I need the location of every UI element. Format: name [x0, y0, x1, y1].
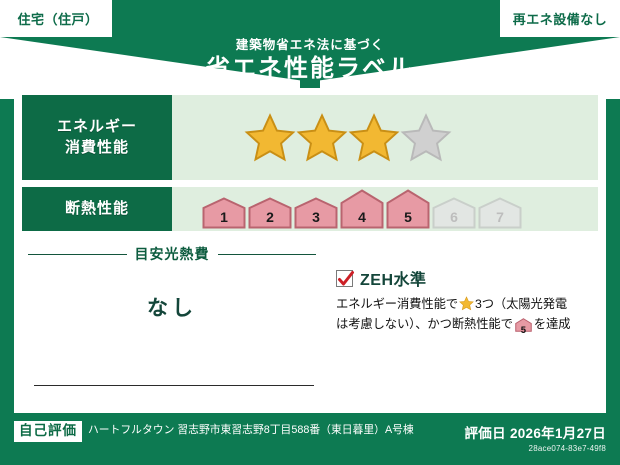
star-icon-filled [296, 112, 348, 164]
star-rating [244, 112, 452, 164]
self-evaluation-badge: 自己評価 [14, 421, 82, 442]
tag-renewable-equipment: 再エネ設備なし [500, 0, 620, 37]
energy-cost-header: 目安光熱費 [28, 244, 316, 264]
insulation-grade-3: 3 [294, 197, 338, 229]
zeh-desc-part2: は考慮しない）、かつ断熱性能で [336, 317, 513, 331]
insulation-grade-6: 6 [432, 197, 476, 229]
zeh-desc-part3: を達成 [534, 317, 571, 331]
energy-performance-row: エネルギー 消費性能 [22, 95, 598, 180]
energy-label-root: 住宅（住戸） 再エネ設備なし 建築物省エネ法に基づく 省エネ性能ラベル エネルギ… [0, 0, 620, 465]
zeh-grade-badge: 5 [515, 318, 532, 339]
energy-cost-rule-right [218, 254, 317, 255]
insulation-grade-value: 3 [294, 209, 338, 225]
zeh-desc-part1: エネルギー消費性能で [336, 297, 458, 311]
zeh-title: ZEH水準 [360, 266, 427, 290]
label-footer: 自己評価 ハートフルタウン 習志野市東習志野8丁目588番（東日暮里）A号棟 評… [0, 413, 620, 465]
insulation-performance-body: 1234567 [172, 187, 598, 231]
insulation-grade-7: 7 [478, 197, 522, 229]
energy-performance-body [172, 95, 598, 180]
star-icon-filled [348, 112, 400, 164]
label-card: エネルギー 消費性能 断熱性能 1234567 目安光熱費 [14, 88, 606, 413]
zeh-checkbox[interactable] [336, 270, 353, 287]
energy-performance-label-line1: エネルギー [57, 117, 137, 137]
evaluation-hash: 28ace074-83e7-49f8 [464, 444, 606, 453]
insulation-grade-value: 7 [478, 209, 522, 225]
insulation-grade-value: 4 [340, 209, 384, 225]
property-address: ハートフルタウン 習志野市東習志野8丁目588番（東日暮里）A号棟 [88, 421, 418, 438]
zeh-header: ZEH水準 [336, 266, 598, 290]
insulation-grade-value: 6 [432, 209, 476, 225]
insulation-grade-value: 2 [248, 209, 292, 225]
star-icon [459, 296, 474, 311]
energy-cost-value: なし [22, 292, 322, 322]
energy-cost-underline [34, 385, 314, 386]
label-lower-section: 目安光熱費 なし ZEH水準 エネルギー消費性能で3つ（太陽光発電 [22, 240, 598, 409]
insulation-grade-scale: 1234567 [202, 189, 522, 229]
evaluation-date-label: 評価日 [464, 426, 505, 441]
zeh-panel: ZEH水準 エネルギー消費性能で3つ（太陽光発電 は考慮しない）、かつ断熱性能で… [322, 240, 598, 409]
zeh-description: エネルギー消費性能で3つ（太陽光発電 は考慮しない）、かつ断熱性能で5を達成 [336, 295, 598, 338]
insulation-grade-value: 5 [386, 209, 430, 225]
zeh-desc-star-count: 3つ（太陽光発電 [475, 297, 567, 311]
insulation-grade-1: 1 [202, 197, 246, 229]
energy-performance-label: エネルギー 消費性能 [22, 95, 172, 180]
insulation-grade-5: 5 [386, 189, 430, 229]
insulation-grade-value: 1 [202, 209, 246, 225]
evaluation-meta: 評価日 2026年1月27日 28ace074-83e7-49f8 [464, 421, 606, 453]
insulation-performance-row: 断熱性能 1234567 [22, 187, 598, 231]
energy-performance-label-line2: 消費性能 [65, 138, 129, 158]
zeh-grade-badge-value: 5 [515, 323, 532, 338]
star-icon-filled [244, 112, 296, 164]
insulation-grade-2: 2 [248, 197, 292, 229]
evaluation-date: 評価日 2026年1月27日 [464, 422, 606, 442]
tag-building-type: 住宅（住戸） [0, 0, 112, 37]
energy-cost-title: 目安光熱費 [127, 244, 218, 264]
insulation-performance-label: 断熱性能 [22, 187, 172, 231]
energy-cost-panel: 目安光熱費 なし [22, 240, 322, 409]
energy-cost-rule-left [28, 254, 127, 255]
check-icon [337, 269, 355, 289]
insulation-grade-4: 4 [340, 189, 384, 229]
insulation-performance-label-text: 断熱性能 [65, 199, 129, 219]
evaluation-date-value: 2026年1月27日 [510, 426, 606, 441]
star-icon-empty [400, 112, 452, 164]
